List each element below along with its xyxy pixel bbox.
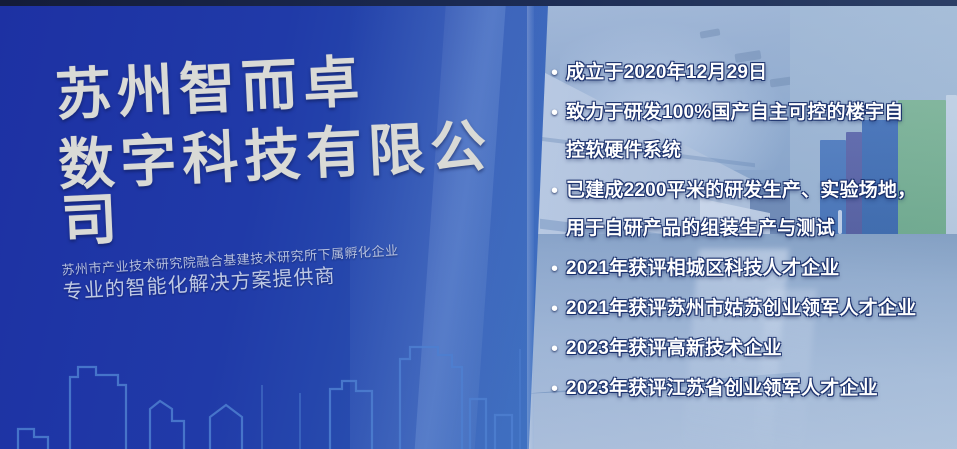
list-item-label: 2021年获评苏州市姑苏创业领军人才企业 bbox=[566, 290, 957, 328]
bullet-dot-icon: • bbox=[546, 94, 566, 132]
list-item: • 成立于2020年12月29日 bbox=[546, 54, 957, 92]
list-item: • 致力于研发100%国产自主可控的楼宇自 控软硬件系统 bbox=[546, 94, 957, 170]
list-item-label: 已建成2200平米的研发生产、实验场地， 用于自研产品的组装生产与测试 bbox=[566, 172, 957, 248]
list-item: • 2021年获评苏州市姑苏创业领军人才企业 bbox=[546, 290, 957, 328]
company-name-line-1: 苏州智而卓 bbox=[54, 46, 526, 123]
bullet-dot-icon: • bbox=[546, 330, 566, 368]
list-item: • 2023年获评江苏省创业领军人才企业 bbox=[546, 370, 957, 408]
bullet-dot-icon: • bbox=[546, 250, 566, 288]
company-name-block: 苏州智而卓 数字科技有限公司 bbox=[54, 46, 532, 249]
list-item-label: 致力于研发100%国产自主可控的楼宇自 控软硬件系统 bbox=[566, 94, 957, 170]
list-item-label: 成立于2020年12月29日 bbox=[566, 54, 957, 92]
company-name-line-2: 数字科技有限公司 bbox=[57, 116, 532, 249]
bullet-dot-icon: • bbox=[546, 54, 566, 92]
bullet-dot-icon: • bbox=[546, 172, 566, 210]
list-item-label: 2021年获评相城区科技人才企业 bbox=[566, 250, 957, 288]
list-item-label: 2023年获评江苏省创业领军人才企业 bbox=[566, 370, 957, 408]
company-wall-sign: 苏州智而卓 数字科技有限公司 苏州市产业技术研究院融合基建技术研究所下属孵化企业… bbox=[0, 5, 548, 449]
list-item: • 已建成2200平米的研发生产、实验场地， 用于自研产品的组装生产与测试 bbox=[546, 172, 957, 248]
bullet-dot-icon: • bbox=[546, 290, 566, 328]
list-item: • 2023年获评高新技术企业 bbox=[546, 330, 957, 368]
list-item-label: 2023年获评高新技术企业 bbox=[566, 330, 957, 368]
sign-right-edge bbox=[527, 5, 534, 449]
list-item: • 2021年获评相城区科技人才企业 bbox=[546, 250, 957, 288]
bullet-dot-icon: • bbox=[546, 370, 566, 408]
company-highlights-list: • 成立于2020年12月29日 • 致力于研发100%国产自主可控的楼宇自 控… bbox=[546, 54, 957, 410]
slide-top-strip bbox=[0, 0, 957, 6]
city-skyline-line-art-icon bbox=[0, 289, 548, 449]
presentation-slide: 苏州智而卓 数字科技有限公司 苏州市产业技术研究院融合基建技术研究所下属孵化企业… bbox=[0, 0, 957, 449]
